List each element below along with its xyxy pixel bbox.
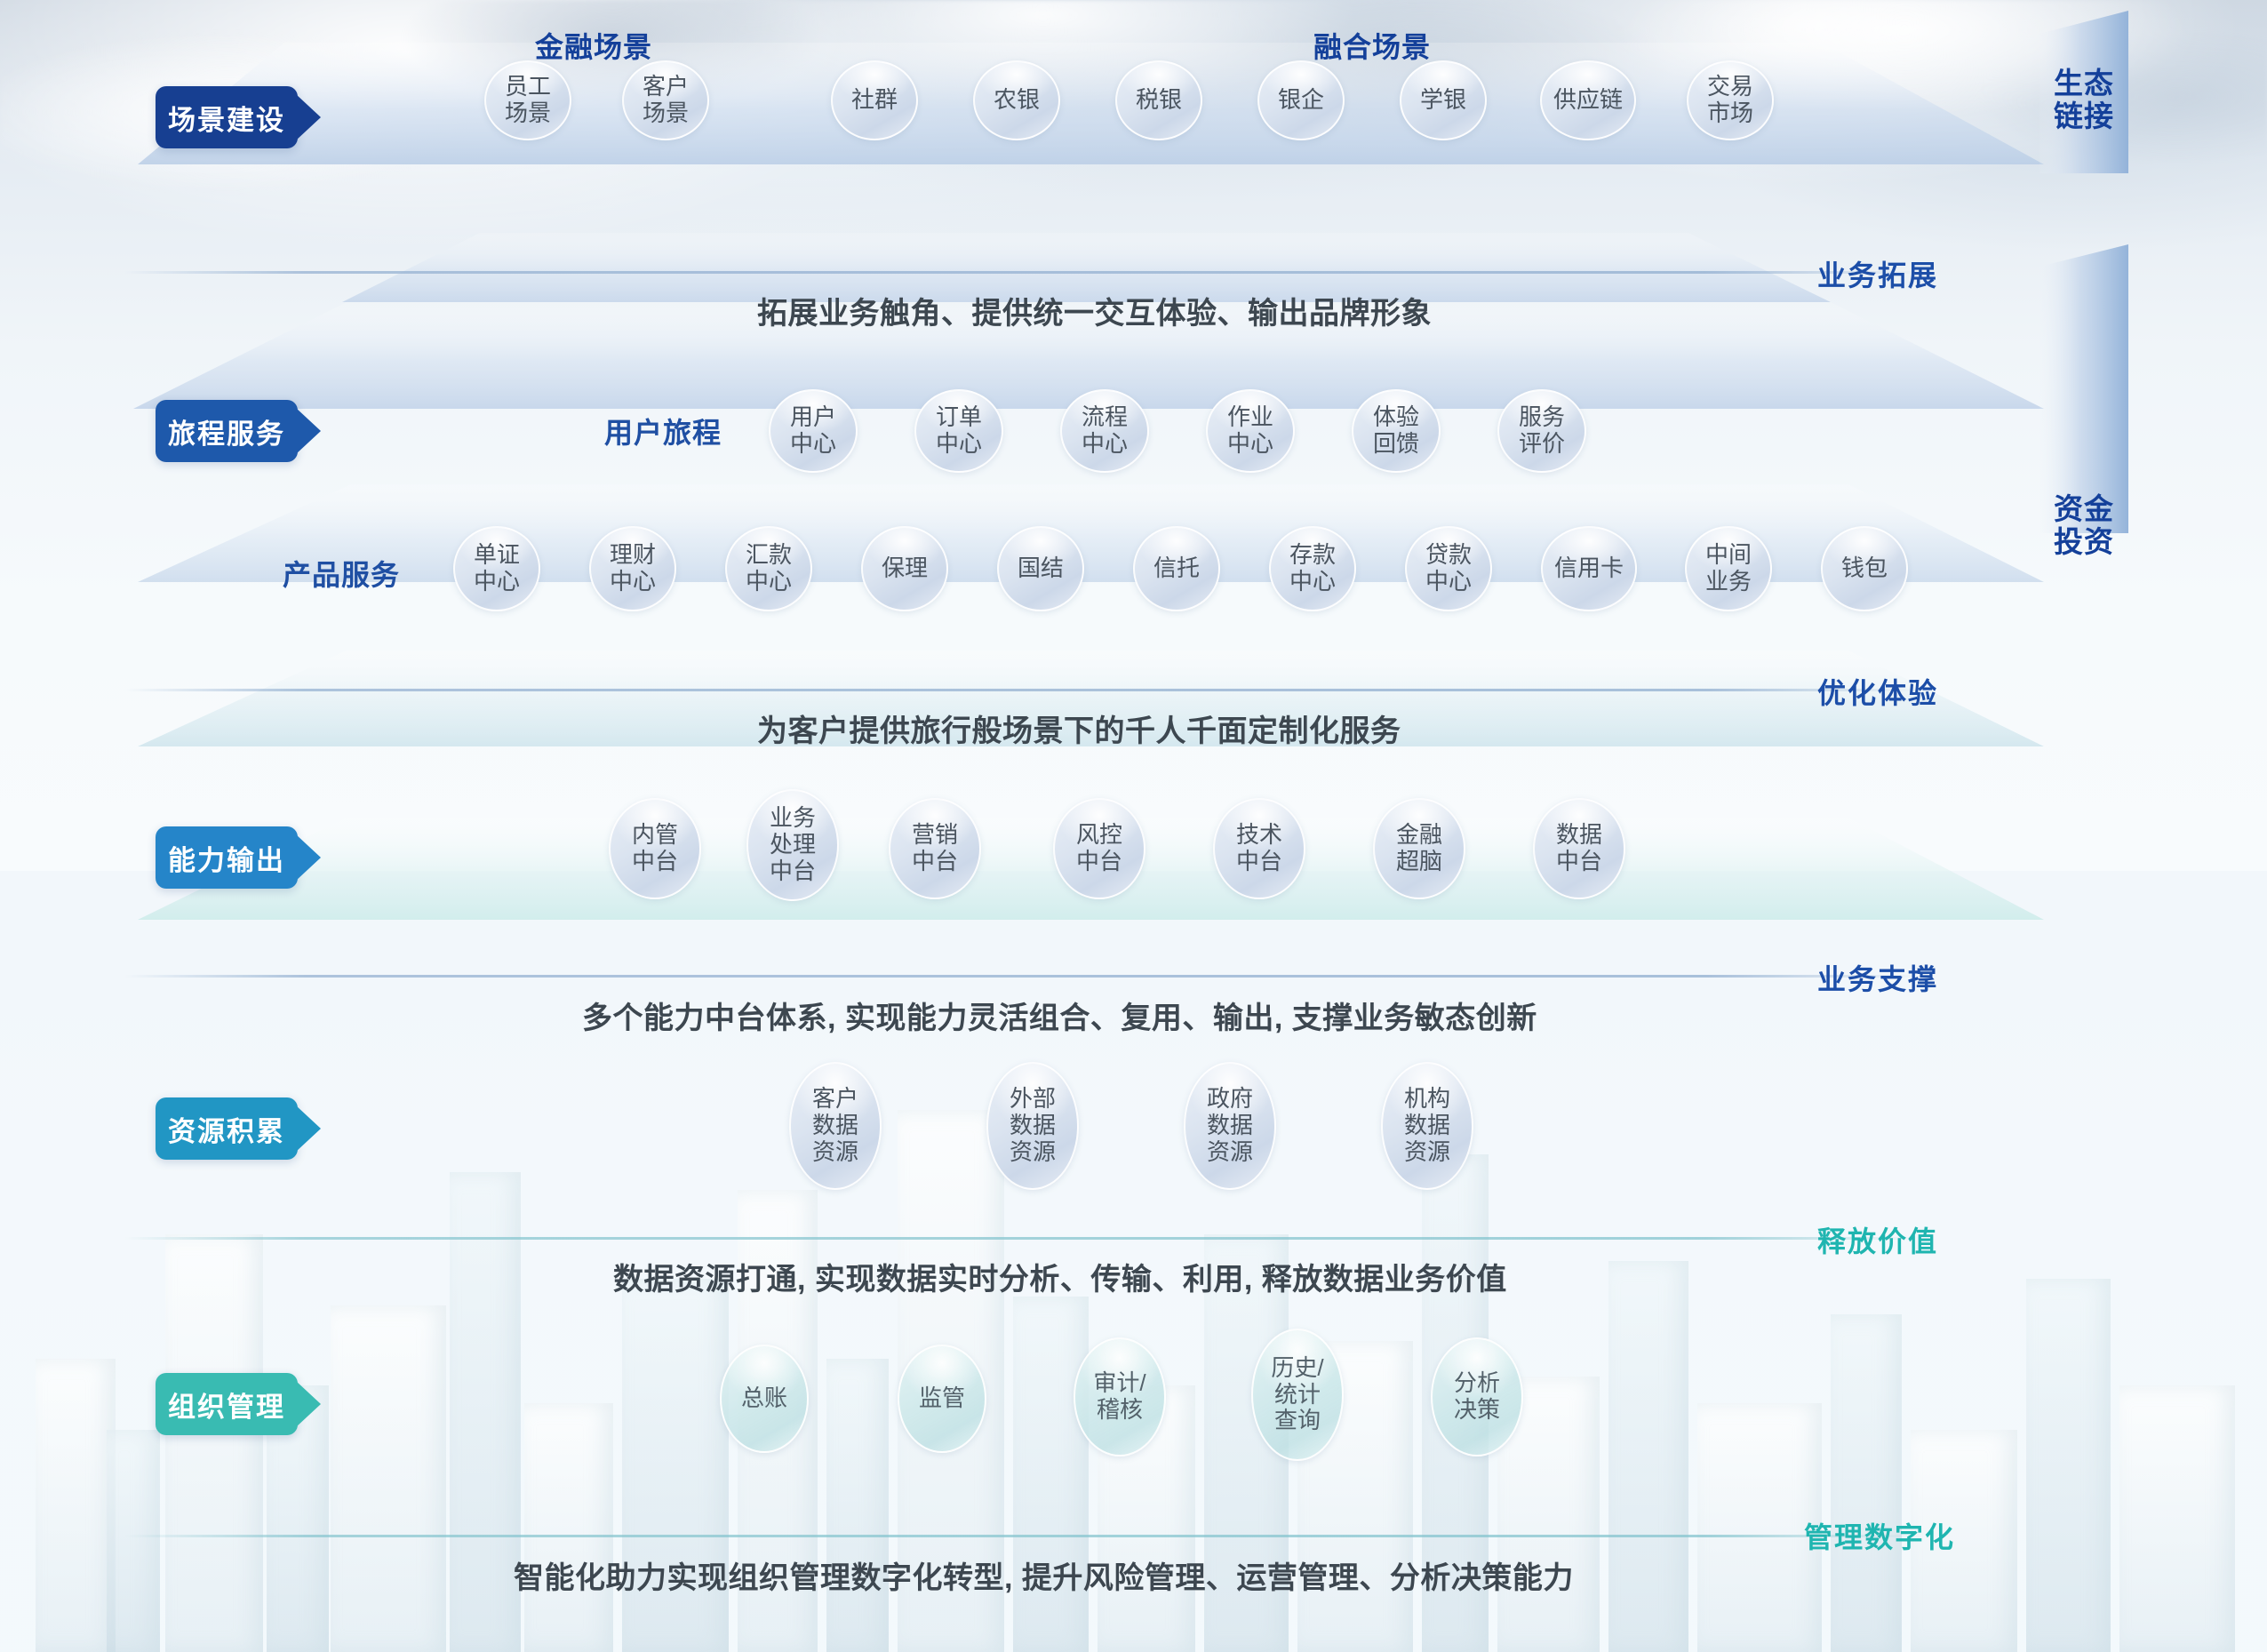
node-journey-operation-center[interactable]: 作业 中心: [1206, 389, 1295, 473]
node-scene-trading-market[interactable]: 交易 市场: [1687, 60, 1774, 140]
node-product-wallet[interactable]: 钱包: [1821, 526, 1908, 611]
node-product-intermediary-business[interactable]: 中间 业务: [1685, 526, 1772, 611]
keyword-release-value: 释放价值: [1817, 1219, 1938, 1260]
divider-rail-resource: [124, 1237, 1921, 1240]
node-org-analysis-decision[interactable]: 分析 决策: [1431, 1337, 1523, 1456]
node-journey-service-rating[interactable]: 服务 评价: [1497, 389, 1586, 473]
layer-badge-scene-label: 场景建设: [168, 98, 285, 138]
layer-badge-organization[interactable]: 组织管理: [156, 1373, 298, 1435]
node-product-credit-card[interactable]: 信用卡: [1541, 526, 1637, 611]
node-line: 保理: [882, 555, 928, 582]
node-journey-order-center[interactable]: 订单 中心: [914, 389, 1003, 473]
node-product-document-center[interactable]: 单证 中心: [453, 526, 540, 611]
node-line: 中间 业务: [1705, 542, 1752, 595]
node-line: 供应链: [1553, 87, 1623, 114]
node-line: 订单 中心: [936, 404, 982, 458]
node-scene-customer[interactable]: 客户 场景: [622, 60, 709, 140]
node-org-history-statistics-query[interactable]: 历史/ 统计 查询: [1251, 1329, 1344, 1461]
node-org-supervision[interactable]: 监管: [898, 1345, 986, 1453]
node-capability-marketing[interactable]: 营销 中台: [889, 798, 981, 899]
node-line: 总账: [741, 1385, 787, 1412]
divider-rail-scene: [124, 271, 1921, 274]
node-product-factoring[interactable]: 保理: [861, 526, 948, 611]
node-line: 内管 中台: [632, 822, 678, 875]
layer-badge-journey-label: 旅程服务: [168, 411, 285, 451]
node-scene-bank-enterprise[interactable]: 银企: [1257, 60, 1345, 140]
node-product-international-settlement[interactable]: 国结: [997, 526, 1084, 611]
layer-badge-resource-label: 资源积累: [168, 1109, 285, 1149]
keyword-business-expansion: 业务拓展: [1817, 253, 1938, 294]
node-capability-technology[interactable]: 技术 中台: [1213, 798, 1305, 899]
tagline-resource: 数据资源打通, 实现数据实时分析、传输、利用, 释放数据业务价值: [613, 1255, 1507, 1298]
node-line: 审计/ 稽核: [1093, 1370, 1145, 1424]
tagline-capability: 多个能力中台体系, 实现能力灵活组合、复用、输出, 支撑业务敏态创新: [582, 994, 1537, 1037]
layer-badge-organization-label: 组织管理: [168, 1385, 285, 1425]
node-scene-school-bank[interactable]: 学银: [1400, 60, 1487, 140]
node-line: 银企: [1278, 87, 1324, 114]
layer-badge-resource[interactable]: 资源积累: [156, 1097, 298, 1160]
node-product-trust[interactable]: 信托: [1133, 526, 1220, 611]
node-line: 员工 场景: [505, 74, 551, 127]
node-line: 社群: [851, 87, 898, 114]
node-line: 交易 市场: [1707, 74, 1753, 127]
node-line: 数据 中台: [1556, 822, 1602, 875]
side-banner-funding: 资金 投资: [2040, 267, 2128, 533]
layer-badge-scene[interactable]: 场景建设: [156, 86, 298, 148]
node-line: 用户 中心: [790, 404, 836, 458]
node-scene-community[interactable]: 社群: [831, 60, 918, 140]
node-line: 汇款 中心: [746, 542, 792, 595]
node-scene-supply-chain[interactable]: 供应链: [1540, 60, 1636, 140]
node-org-audit[interactable]: 审计/ 稽核: [1074, 1337, 1166, 1456]
divider-rail-journey: [124, 689, 1921, 691]
node-line: 信用卡: [1554, 555, 1624, 582]
node-resource-customer-data[interactable]: 客户 数据 资源: [789, 1062, 882, 1190]
node-line: 分析 决策: [1454, 1370, 1500, 1424]
node-line: 业务 处理 中台: [770, 805, 816, 885]
node-product-loan-center[interactable]: 贷款 中心: [1405, 526, 1492, 611]
layer-badge-capability-label: 能力输出: [168, 838, 285, 878]
node-line: 客户 数据 资源: [812, 1086, 858, 1166]
tagline-scene: 拓展业务触角、提供统一交互体验、输出品牌形象: [757, 289, 1432, 332]
group-caption-product-service: 产品服务: [283, 553, 400, 594]
node-line: 客户 场景: [643, 74, 689, 127]
node-resource-institution-data[interactable]: 机构 数据 资源: [1381, 1062, 1473, 1190]
node-line: 钱包: [1841, 555, 1888, 582]
node-product-remittance-center[interactable]: 汇款 中心: [725, 526, 812, 611]
node-line: 历史/ 统计 查询: [1271, 1355, 1323, 1435]
node-journey-user-center[interactable]: 用户 中心: [769, 389, 858, 473]
node-line: 作业 中心: [1227, 404, 1273, 458]
layer-badge-journey[interactable]: 旅程服务: [156, 400, 298, 462]
node-line: 服务 评价: [1519, 404, 1565, 458]
node-product-deposit-center[interactable]: 存款 中心: [1269, 526, 1356, 611]
node-line: 营销 中台: [912, 822, 958, 875]
node-capability-business-processing[interactable]: 业务 处理 中台: [746, 789, 839, 901]
node-line: 机构 数据 资源: [1404, 1086, 1450, 1166]
node-capability-financial-brain[interactable]: 金融 超脑: [1373, 798, 1465, 899]
node-line: 体验 回馈: [1373, 404, 1419, 458]
node-line: 金融 超脑: [1396, 822, 1442, 875]
node-scene-employee[interactable]: 员工 场景: [484, 60, 571, 140]
keyword-management-digitalization: 管理数字化: [1804, 1515, 1955, 1556]
node-scene-tax-bank[interactable]: 税银: [1115, 60, 1202, 140]
node-line: 单证 中心: [474, 542, 520, 595]
node-line: 农银: [994, 87, 1040, 114]
node-line: 信托: [1153, 555, 1200, 582]
node-line: 贷款 中心: [1425, 542, 1472, 595]
tagline-organization: 智能化助力实现组织管理数字化转型, 提升风险管理、运营管理、分析决策能力: [514, 1553, 1574, 1597]
node-line: 理财 中心: [610, 542, 656, 595]
node-line: 外部 数据 资源: [1010, 1086, 1056, 1166]
node-line: 监管: [919, 1385, 965, 1412]
side-banner-ecosystem-label: 生态 链接: [2040, 68, 2128, 133]
node-line: 政府 数据 资源: [1207, 1086, 1253, 1166]
node-journey-experience-feedback[interactable]: 体验 回馈: [1352, 389, 1441, 473]
node-capability-data[interactable]: 数据 中台: [1533, 798, 1625, 899]
side-banner-ecosystem: 生态 链接: [2040, 34, 2128, 176]
node-capability-risk-control[interactable]: 风控 中台: [1053, 798, 1145, 899]
node-org-general-ledger[interactable]: 总账: [720, 1345, 809, 1453]
keyword-optimize-experience: 优化体验: [1817, 671, 1938, 712]
node-line: 存款 中心: [1289, 542, 1336, 595]
node-line: 国结: [1018, 555, 1064, 582]
node-resource-external-data[interactable]: 外部 数据 资源: [986, 1062, 1079, 1190]
side-banner-funding-label: 资金 投资: [2040, 493, 2128, 559]
group-caption-user-journey: 用户旅程: [604, 411, 722, 451]
keyword-business-support: 业务支撑: [1817, 957, 1938, 998]
node-line: 流程 中心: [1082, 404, 1128, 458]
group-caption-financial-scene: 金融场景: [535, 25, 652, 66]
node-journey-process-center[interactable]: 流程 中心: [1060, 389, 1149, 473]
node-line: 风控 中台: [1076, 822, 1122, 875]
node-scene-agri-bank[interactable]: 农银: [973, 60, 1060, 140]
node-product-wealth-center[interactable]: 理财 中心: [589, 526, 676, 611]
group-caption-fusion-scene: 融合场景: [1313, 25, 1431, 66]
node-line: 学银: [1420, 87, 1466, 114]
node-line: 技术 中台: [1236, 822, 1282, 875]
layer-badge-capability[interactable]: 能力输出: [156, 826, 298, 889]
node-capability-internal-management[interactable]: 内管 中台: [609, 798, 701, 899]
tagline-journey: 为客户提供旅行般场景下的千人千面定制化服务: [757, 706, 1401, 750]
node-line: 税银: [1136, 87, 1182, 114]
node-resource-government-data[interactable]: 政府 数据 资源: [1184, 1062, 1276, 1190]
divider-rail-organization: [124, 1535, 1921, 1537]
divider-rail-capability: [124, 975, 1921, 978]
